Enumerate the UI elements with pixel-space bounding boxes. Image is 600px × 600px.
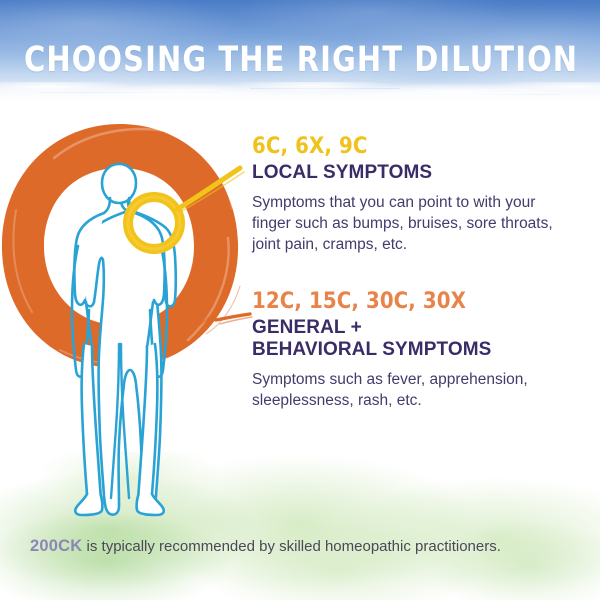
orange-leader-line: [216, 314, 252, 324]
symptom-title-local: LOCAL SYMPTOMS: [252, 162, 592, 184]
footer-note: 200CK is typically recommended by skille…: [30, 536, 580, 557]
dilution-text-column: 6C, 6X, 9C LOCAL SYMPTOMS Symptoms that …: [252, 134, 592, 411]
dilution-values-local: 6C, 6X, 9C: [252, 134, 592, 160]
dilution-block-local: 6C, 6X, 9C LOCAL SYMPTOMS Symptoms that …: [252, 134, 592, 255]
dilution-block-general: 12C, 15C, 30C, 30X GENERAL + BEHAVIORAL …: [252, 289, 592, 411]
symptom-body-general: Symptoms such as fever, apprehension, sl…: [252, 369, 552, 411]
page-title: CHOOSING THE RIGHT DILUTION: [24, 40, 576, 80]
footer-text: is typically recommended by skilled home…: [82, 538, 501, 555]
symptom-body-local: Symptoms that you can point to with your…: [252, 192, 564, 255]
symptom-title-general-line2: BEHAVIORAL SYMPTOMS: [252, 339, 491, 360]
footer-dilution-value: 200CK: [30, 537, 82, 555]
illustration-group: [0, 118, 262, 538]
symptom-title-general: GENERAL + BEHAVIORAL SYMPTOMS: [252, 317, 592, 361]
symptom-title-general-line1: GENERAL +: [252, 317, 362, 338]
infographic-canvas: CHOOSING THE RIGHT DILUTION: [0, 0, 600, 600]
header-bottom-edge: [0, 82, 600, 108]
dilution-values-general: 12C, 15C, 30C, 30X: [252, 289, 592, 315]
